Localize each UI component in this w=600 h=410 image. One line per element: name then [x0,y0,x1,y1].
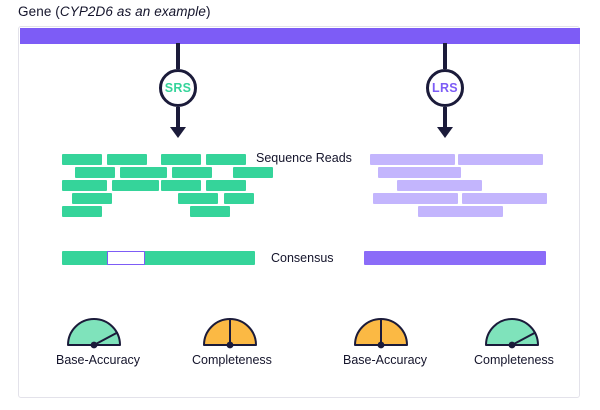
short-read-segment [233,167,273,178]
gauge-label: Base-Accuracy [343,353,419,367]
gene-bar [20,28,580,44]
short-read-segment [107,154,147,165]
short-read-segment [72,193,112,204]
short-read-segment [172,167,212,178]
gauge-lrs-completeness: Completeness [474,315,550,367]
gauge-dial-icon [56,315,132,351]
long-read-segment [370,154,455,165]
short-read-segment [75,167,115,178]
gauge-dial-icon [192,315,268,351]
gauge-dial-icon [343,315,419,351]
short-read-segment [62,180,107,191]
consensus-srs-gap [107,251,145,265]
gauge-srs-base-accuracy: Base-Accuracy [56,315,132,367]
short-read-segment [62,154,102,165]
gauge-label: Completeness [474,353,550,367]
long-read-segment [418,206,503,217]
long-read-segment [378,167,461,178]
short-read-segment [206,180,246,191]
lrs-arrow-stem-bottom [443,107,447,129]
figure-title-italic: CYP2D6 as an example [60,4,206,19]
short-read-segment [120,167,167,178]
srs-arrow-stem-top [176,43,180,69]
gauge-srs-completeness: Completeness [192,315,268,367]
gauge-lrs-base-accuracy: Base-Accuracy [343,315,419,367]
figure-title: Gene (CYP2D6 as an example) [18,4,211,19]
short-read-segment [206,154,246,165]
short-read-segment [224,193,254,204]
gauge-dial-icon [474,315,550,351]
lrs-arrowhead-icon [437,127,453,138]
consensus-srs-bar [62,251,255,265]
long-read-segment [397,180,482,191]
short-read-segment [178,193,218,204]
lrs-label: LRS [432,81,458,95]
sequence-reads-label: Sequence Reads [256,151,352,165]
srs-arrowhead-icon [170,127,186,138]
consensus-lrs-bar [364,251,546,265]
flow-srs: SRS [159,43,197,139]
flow-lrs: LRS [426,43,464,139]
lrs-arrow-stem-top [443,43,447,69]
long-read-segment [373,193,458,204]
short-read-segment [190,206,230,217]
srs-circle: SRS [159,69,197,107]
short-read-segment [112,180,159,191]
gauge-label: Completeness [192,353,268,367]
short-read-segment [62,206,102,217]
figure-title-plain: Gene ( [18,4,60,19]
long-read-segment [462,193,547,204]
consensus-label: Consensus [271,251,334,265]
short-read-segment [161,180,201,191]
figure-root: Gene (CYP2D6 as an example) SRS LRS Sequ… [0,0,600,410]
gauge-label: Base-Accuracy [56,353,132,367]
lrs-circle: LRS [426,69,464,107]
long-read-segment [458,154,543,165]
figure-title-close: ) [206,4,211,19]
srs-label: SRS [165,81,192,95]
srs-arrow-stem-bottom [176,107,180,129]
short-read-segment [161,154,201,165]
